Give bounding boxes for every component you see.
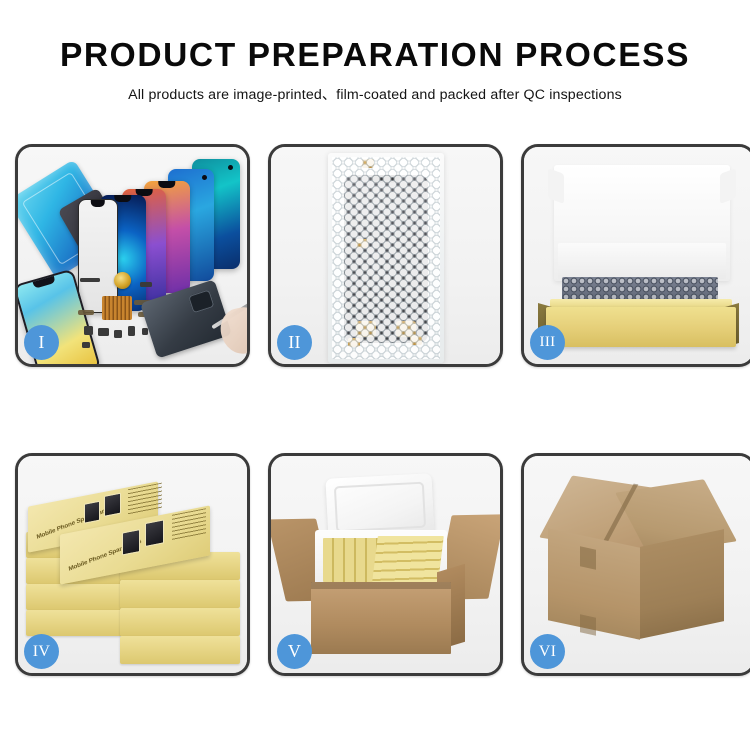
part-chip-icon <box>98 328 109 336</box>
process-steps-grid: I II <box>15 144 735 676</box>
circuit-board-icon <box>102 296 132 320</box>
process-step-panel-2: II <box>268 144 503 367</box>
process-step-panel-5: V <box>268 453 503 676</box>
page-subtitle: All products are image-printed、film-coat… <box>0 84 750 104</box>
step-badge-6: VI <box>530 634 565 669</box>
page-title: PRODUCT PREPARATION PROCESS <box>0 38 750 75</box>
bubble-texture-icon <box>332 157 440 359</box>
step-badge-2: II <box>277 325 312 360</box>
part-chip-icon <box>114 330 122 338</box>
part-chip-icon <box>142 328 148 335</box>
speaker-coil-icon <box>114 272 131 289</box>
flex-cable-icon <box>78 310 94 315</box>
header: PRODUCT PREPARATION PROCESS All products… <box>0 38 750 104</box>
box-spec-lines-icon <box>128 483 162 516</box>
part-chip-icon <box>84 326 93 335</box>
bubble-wrap-bag-icon <box>328 153 444 363</box>
box-window-icon <box>104 493 121 517</box>
retail-box-stack: Mobile Phone Spare Parts Mobile Phone Sp… <box>24 474 247 664</box>
retail-box-item <box>120 636 240 664</box>
carton-tab-icon <box>580 546 596 569</box>
part-chip-icon <box>80 278 100 282</box>
step-badge-1: I <box>24 325 59 360</box>
process-step-panel-6: VI <box>521 453 750 676</box>
retail-box-item <box>120 608 240 636</box>
carton-side-face-icon <box>640 529 724 639</box>
part-chip-icon <box>140 282 152 287</box>
step-badge-4: IV <box>24 634 59 669</box>
step-badge-5: V <box>277 634 312 669</box>
foam-liner-icon <box>558 243 726 279</box>
retail-box-item <box>120 580 240 608</box>
yellow-boxes-inside-icon <box>372 536 444 582</box>
process-step-panel-4: Mobile Phone Spare Parts Mobile Phone Sp… <box>15 453 250 676</box>
box-window-icon <box>84 501 100 524</box>
process-step-panel-3: III <box>521 144 750 367</box>
carton-front-icon <box>311 582 451 654</box>
step-badge-3: III <box>530 325 565 360</box>
part-chip-icon <box>128 326 135 336</box>
carton-tab-icon <box>580 614 596 635</box>
product-preparation-infographic: PRODUCT PREPARATION PROCESS All products… <box>0 0 750 750</box>
process-step-panel-1: I <box>15 144 250 367</box>
box-window-icon <box>122 529 140 555</box>
box-spec-lines-icon <box>172 508 206 541</box>
box-window-icon <box>145 519 164 547</box>
part-chip-icon <box>82 342 90 348</box>
yellow-box-front-icon <box>546 307 736 347</box>
